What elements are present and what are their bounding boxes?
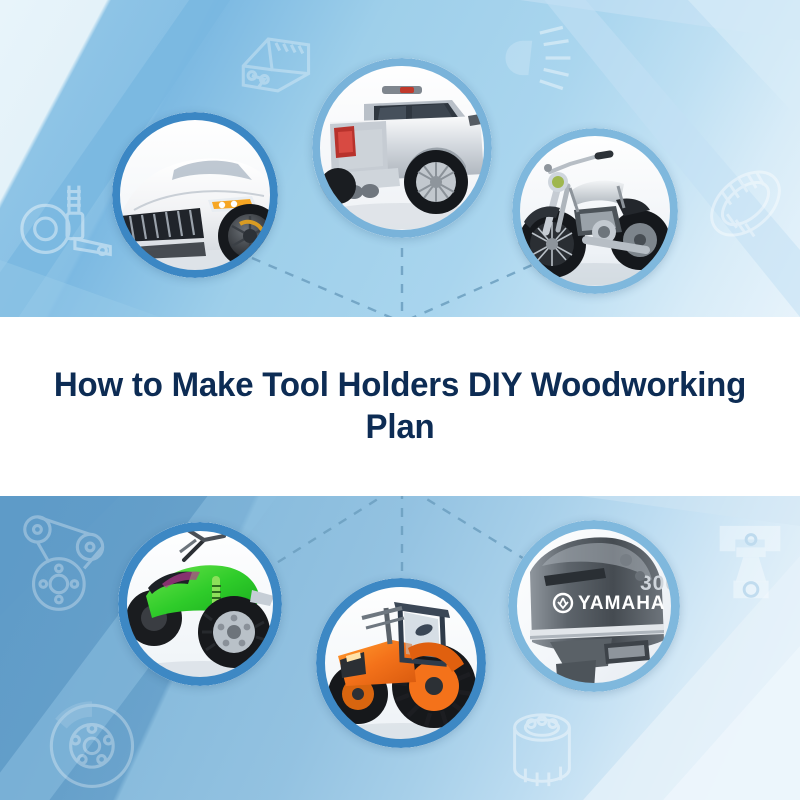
yamaha-badge-text: YAMAHA	[578, 593, 666, 614]
atv-quad-photo	[118, 522, 282, 686]
photo-circle-tractor	[316, 578, 486, 748]
motorcycle-photo	[512, 128, 678, 294]
photo-circle-pickup-truck	[312, 58, 492, 238]
outboard-hp-number: 300	[640, 572, 678, 595]
photo-circle-sports-car	[112, 112, 278, 278]
page-title: How to Make Tool Holders DIY Woodworking…	[18, 365, 782, 448]
top-vehicle-band	[0, 0, 800, 317]
pickup-truck-photo	[312, 58, 492, 238]
photo-circle-motorcycle	[512, 128, 678, 294]
title-band: How to Make Tool Holders DIY Woodworking…	[0, 317, 800, 496]
banner-image: How to Make Tool Holders DIY Woodworking…	[0, 0, 800, 800]
tractor-photo	[316, 578, 486, 748]
photo-circle-outboard-motor: YAMAHA 300	[508, 520, 680, 692]
outboard-motor-photo: YAMAHA 300	[508, 520, 680, 692]
sports-car-photo	[112, 112, 278, 278]
bottom-vehicle-band: YAMAHA 300	[0, 496, 800, 800]
photo-circle-atv-quad	[118, 522, 282, 686]
